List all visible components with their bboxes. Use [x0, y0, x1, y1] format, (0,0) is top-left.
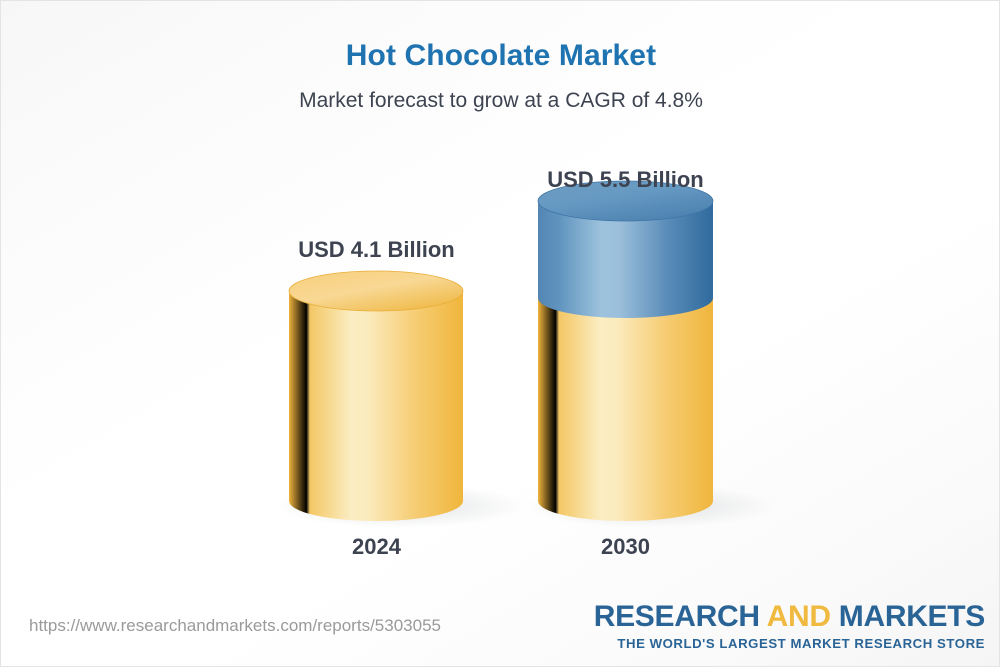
bar-2024-top-cap — [289, 271, 463, 311]
infographic-card: Hot Chocolate Market Market forecast to … — [0, 0, 1000, 667]
chart-plot-area: USD 4.1 Billion USD 5.5 Billion 2024 203… — [1, 1, 1000, 601]
cylinder-bar-chart — [1, 1, 1000, 601]
category-label-2024: 2024 — [289, 534, 464, 560]
brand-tagline: THE WORLD'S LARGEST MARKET RESEARCH STOR… — [594, 637, 985, 650]
brand-logo: RESEARCH AND MARKETS THE WORLD'S LARGEST… — [594, 602, 985, 650]
bar-2024[interactable] — [289, 271, 463, 521]
chart-footer: https://www.researchandmarkets.com/repor… — [1, 594, 1000, 666]
value-label-2030: USD 5.5 Billion — [538, 167, 713, 193]
bar-2030-base-body — [538, 298, 713, 521]
value-label-2024: USD 4.1 Billion — [289, 237, 464, 263]
brand-word-markets: MARKETS — [831, 600, 985, 633]
bar-2030[interactable] — [538, 181, 713, 521]
brand-word-research: RESEARCH — [594, 600, 767, 633]
category-label-2030: 2030 — [538, 534, 713, 560]
brand-logo-wordmark: RESEARCH AND MARKETS — [594, 602, 985, 632]
brand-word-and: AND — [767, 600, 831, 633]
bar-2024-body — [289, 291, 463, 521]
source-url-link[interactable]: https://www.researchandmarkets.com/repor… — [29, 616, 441, 636]
